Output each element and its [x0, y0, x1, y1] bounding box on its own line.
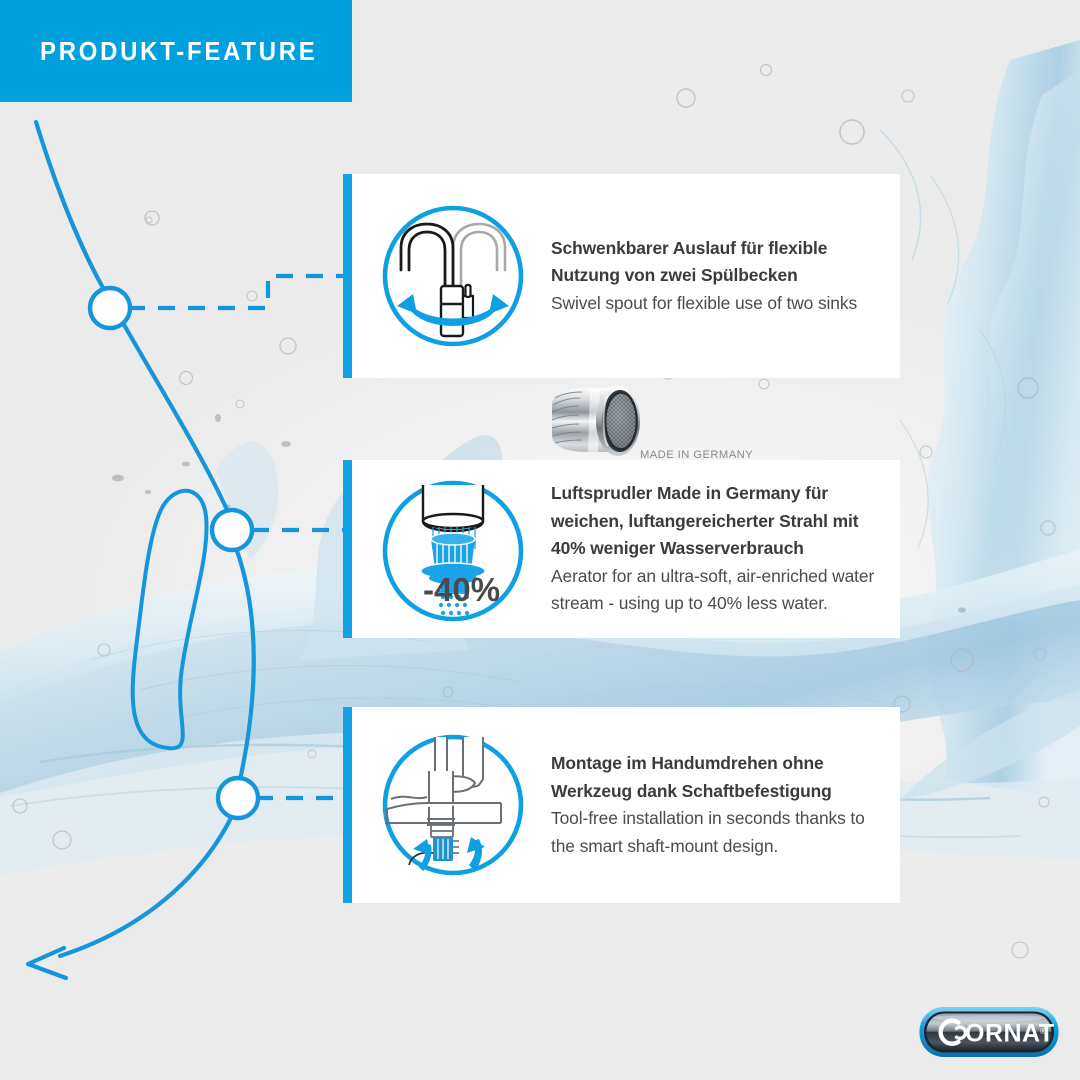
feature-headline: Luftsprudler Made in Germany für weichen… — [551, 480, 882, 563]
chrome-aerator-photo — [542, 382, 654, 460]
water-saving-badge: -40% — [423, 571, 500, 608]
feature-card-shaft-mount: Montage im Handumdrehen ohne Werkzeug da… — [343, 707, 900, 903]
connector-node-1 — [90, 288, 130, 328]
connector-node-2 — [212, 510, 252, 550]
card-accent-bar — [343, 174, 352, 378]
feature-headline: Schwenkbarer Auslauf für flexible Nutzun… — [551, 235, 882, 290]
connector-curve-lower-mid — [236, 548, 254, 780]
trademark-symbol: ® — [1040, 1027, 1046, 1036]
card-accent-bar — [343, 460, 352, 638]
arrowhead-icon — [28, 948, 66, 978]
infographic-canvas: PRODUKT-FEATURE — [0, 0, 1080, 1080]
feature-card-aerator: -40% Luftsprudler Made in Germany für we… — [343, 460, 900, 638]
connector-curve-upper-mid — [110, 300, 228, 512]
cornat-logo: ORNAT ® — [918, 1004, 1060, 1060]
card-accent-bar — [343, 707, 352, 903]
card-text-block: Luftsprudler Made in Germany für weichen… — [551, 480, 900, 618]
feature-subtitle: Tool-free installation in seconds thanks… — [551, 805, 882, 860]
feature-card-swivel-spout: Schwenkbarer Auslauf für flexible Nutzun… — [343, 174, 900, 378]
shaft-mount-installation-icon — [379, 731, 527, 879]
feature-subtitle: Aerator for an ultra-soft, air-enriched … — [551, 563, 882, 618]
aerator-water-saving-icon: -40% — [379, 477, 527, 625]
connector-loop — [133, 491, 207, 749]
connector-curve-bottom — [60, 816, 232, 956]
feature-headline: Montage im Handumdrehen ohne Werkzeug da… — [551, 750, 882, 805]
dashed-connector-1 — [128, 276, 348, 308]
card-text-block: Schwenkbarer Auslauf für flexible Nutzun… — [551, 235, 900, 318]
made-in-germany-caption: MADE IN GERMANY — [640, 449, 753, 461]
connector-curve-top — [36, 122, 110, 300]
swivel-spout-icon — [379, 202, 527, 350]
card-text-block: Montage im Handumdrehen ohne Werkzeug da… — [551, 750, 900, 860]
header-banner: PRODUKT-FEATURE — [0, 0, 352, 102]
feature-subtitle: Swivel spout for flexible use of two sin… — [551, 290, 882, 318]
page-title: PRODUKT-FEATURE — [40, 36, 317, 67]
connector-node-3 — [218, 778, 258, 818]
